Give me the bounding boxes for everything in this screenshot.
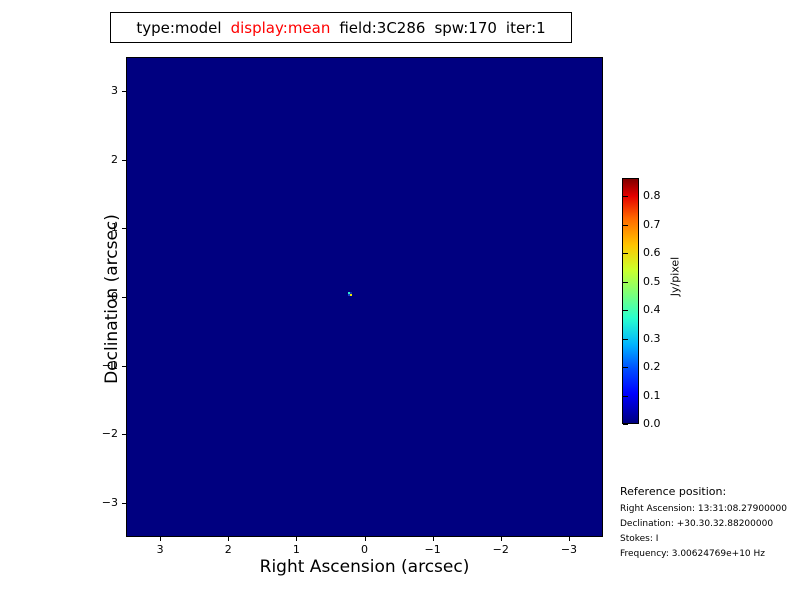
x-axis-tick-label: 1 bbox=[276, 543, 316, 556]
x-axis-tick-label: −2 bbox=[481, 543, 521, 556]
colorbar-tick bbox=[623, 253, 628, 254]
x-axis-tick bbox=[433, 537, 434, 541]
reference-position-panel: Reference position: Right Ascension: 13:… bbox=[620, 485, 800, 564]
x-axis-tick bbox=[228, 537, 229, 541]
x-axis-tick-label: 0 bbox=[345, 543, 385, 556]
image-canvas bbox=[127, 58, 602, 536]
reference-position-ra: Right Ascension: 13:31:08.27900000 bbox=[620, 504, 800, 514]
colorbar-tick bbox=[623, 396, 628, 397]
x-axis-tick-label: −3 bbox=[549, 543, 589, 556]
y-axis-tick bbox=[122, 434, 126, 435]
y-axis-tick bbox=[122, 160, 126, 161]
y-axis-tick bbox=[122, 228, 126, 229]
title-token-display: display:mean bbox=[231, 19, 331, 37]
colorbar-tick-label: 0.8 bbox=[643, 189, 661, 202]
x-axis-tick bbox=[365, 537, 366, 541]
x-axis-tick-label: 2 bbox=[208, 543, 248, 556]
colorbar-tick-label: 0.0 bbox=[643, 417, 661, 430]
colorbar-tick-label: 0.3 bbox=[643, 332, 661, 345]
colorbar-tick-label: 0.5 bbox=[643, 275, 661, 288]
colorbar-tick-label: 0.4 bbox=[643, 303, 661, 316]
colorbar-unit-label: Jy/pixel bbox=[669, 247, 682, 307]
colorbar-tick bbox=[623, 282, 628, 283]
y-axis-tick bbox=[122, 366, 126, 367]
colorbar-tick bbox=[623, 310, 628, 311]
x-axis-tick bbox=[501, 537, 502, 541]
colorbar-tick-label: 0.6 bbox=[643, 246, 661, 259]
x-axis-tick bbox=[160, 537, 161, 541]
title-token-field: field:3C286 bbox=[339, 19, 425, 37]
reference-position-dec: Declination: +30.30.32.88200000 bbox=[620, 519, 800, 529]
sky-image-plot[interactable] bbox=[126, 57, 603, 537]
title-token-type: type:model bbox=[136, 19, 221, 37]
plot-title-box: type:model display:mean field:3C286 spw:… bbox=[110, 12, 572, 43]
colorbar-tick bbox=[623, 196, 628, 197]
colorbar-tick bbox=[623, 225, 628, 226]
colorbar-tick bbox=[623, 339, 628, 340]
reference-position-heading: Reference position: bbox=[620, 485, 800, 498]
colorbar[interactable] bbox=[622, 178, 639, 424]
colorbar-tick-label: 0.1 bbox=[643, 389, 661, 402]
y-axis-tick bbox=[122, 297, 126, 298]
x-axis-tick-label: 3 bbox=[140, 543, 180, 556]
x-axis-tick bbox=[296, 537, 297, 541]
title-token-spw: spw:170 bbox=[434, 19, 496, 37]
y-axis-label: Declination (arcsec) bbox=[102, 59, 122, 539]
reference-position-stokes: Stokes: I bbox=[620, 534, 800, 544]
x-axis-tick bbox=[569, 537, 570, 541]
y-axis-tick bbox=[122, 91, 126, 92]
colorbar-tick-label: 0.7 bbox=[643, 218, 661, 231]
colorbar-tick bbox=[623, 424, 628, 425]
y-axis-tick bbox=[122, 503, 126, 504]
title-token-iter: iter:1 bbox=[506, 19, 546, 37]
point-source-pixel bbox=[350, 294, 352, 296]
reference-position-frequency: Frequency: 3.00624769e+10 Hz bbox=[620, 549, 800, 559]
colorbar-tick-label: 0.2 bbox=[643, 360, 661, 373]
x-axis-tick-label: −1 bbox=[413, 543, 453, 556]
colorbar-tick bbox=[623, 367, 628, 368]
x-axis-label: Right Ascension (arcsec) bbox=[126, 557, 603, 577]
